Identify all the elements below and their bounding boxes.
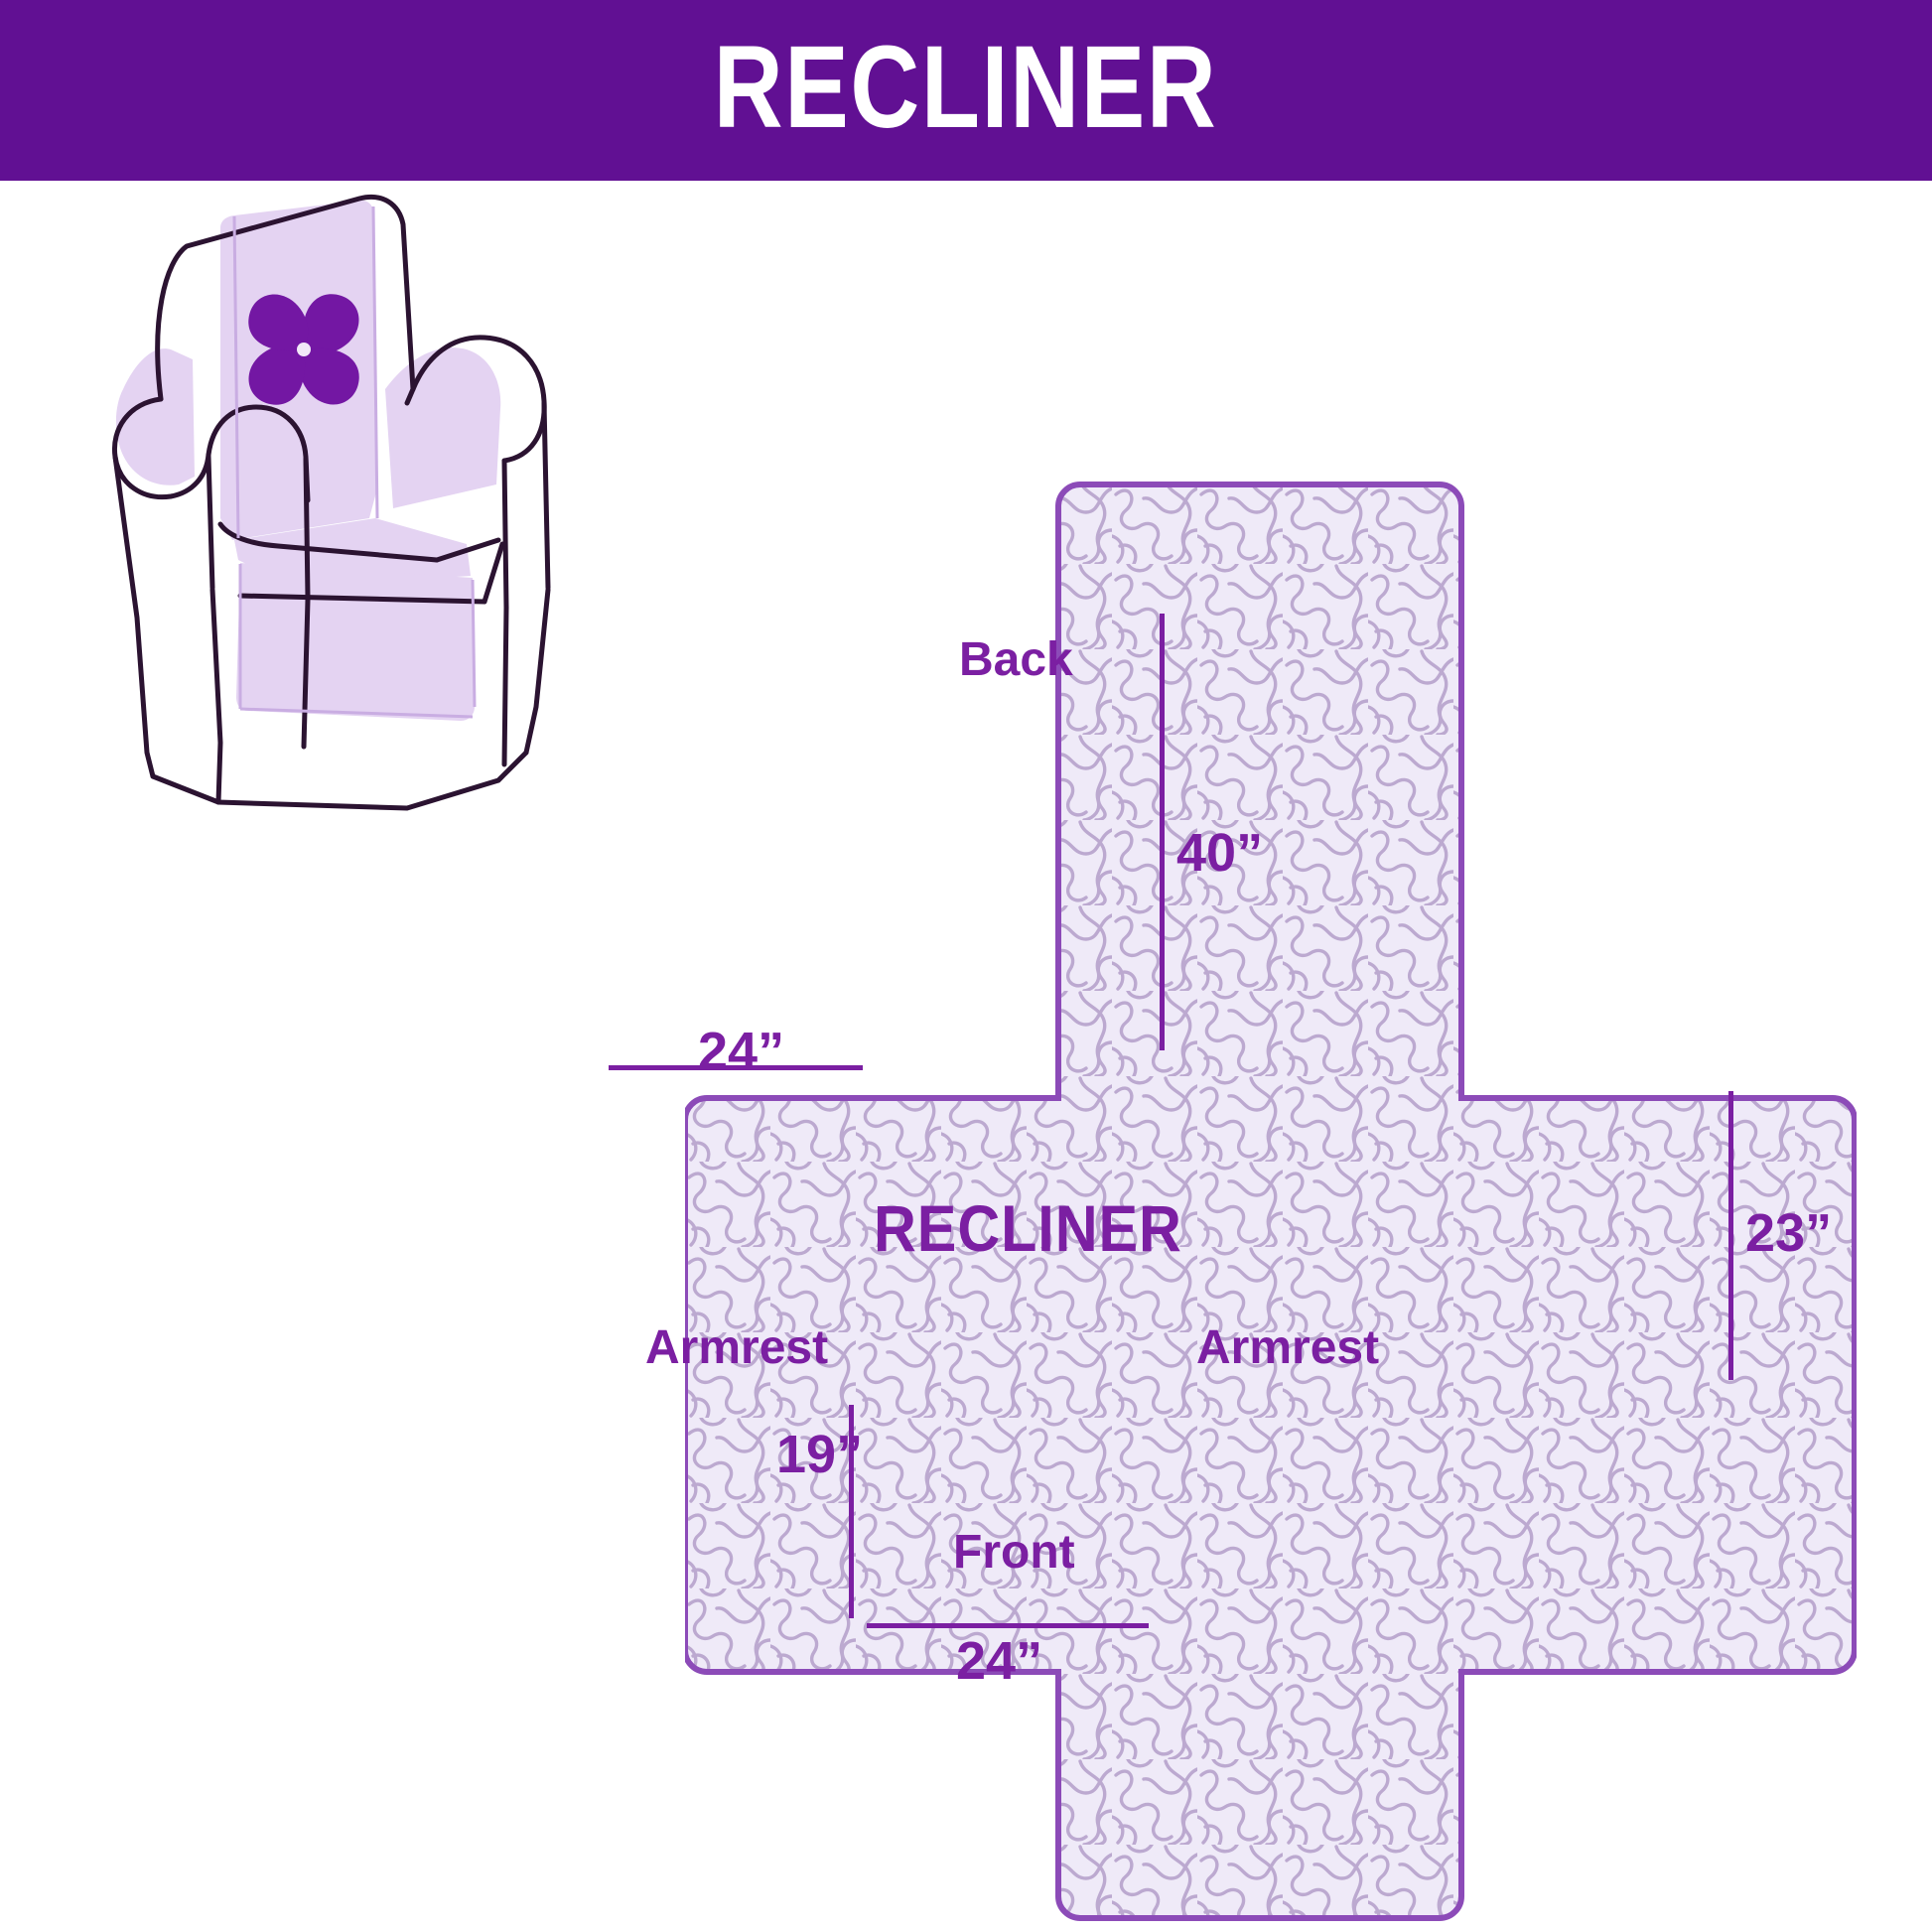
dimension-label-back-height: 40” [1176,826,1263,880]
dimension-label-armrest-height: 23” [1745,1206,1832,1260]
label-back: Back [959,636,1073,684]
page-title: RECLINER [714,29,1218,146]
dimension-line-back-height [1160,614,1165,1050]
label-front: Front [953,1529,1075,1577]
dimension-line-armrest-height [1728,1091,1733,1380]
label-armrest-left: Armrest [645,1324,828,1372]
content-area: Back Front Armrest Armrest RECLINER 40” … [0,181,1932,1932]
dimension-label-front-height: 19” [776,1428,863,1481]
dimension-line-front-width [867,1623,1149,1628]
header-banner: RECLINER [0,0,1932,181]
label-recliner-center: RECLINER [874,1195,1182,1261]
label-armrest-right: Armrest [1196,1324,1379,1372]
dimension-label-front-width: 24” [956,1634,1042,1688]
recliner-cover-pattern [685,479,1857,1928]
dimension-label-armrest-width: 24” [698,1025,784,1078]
